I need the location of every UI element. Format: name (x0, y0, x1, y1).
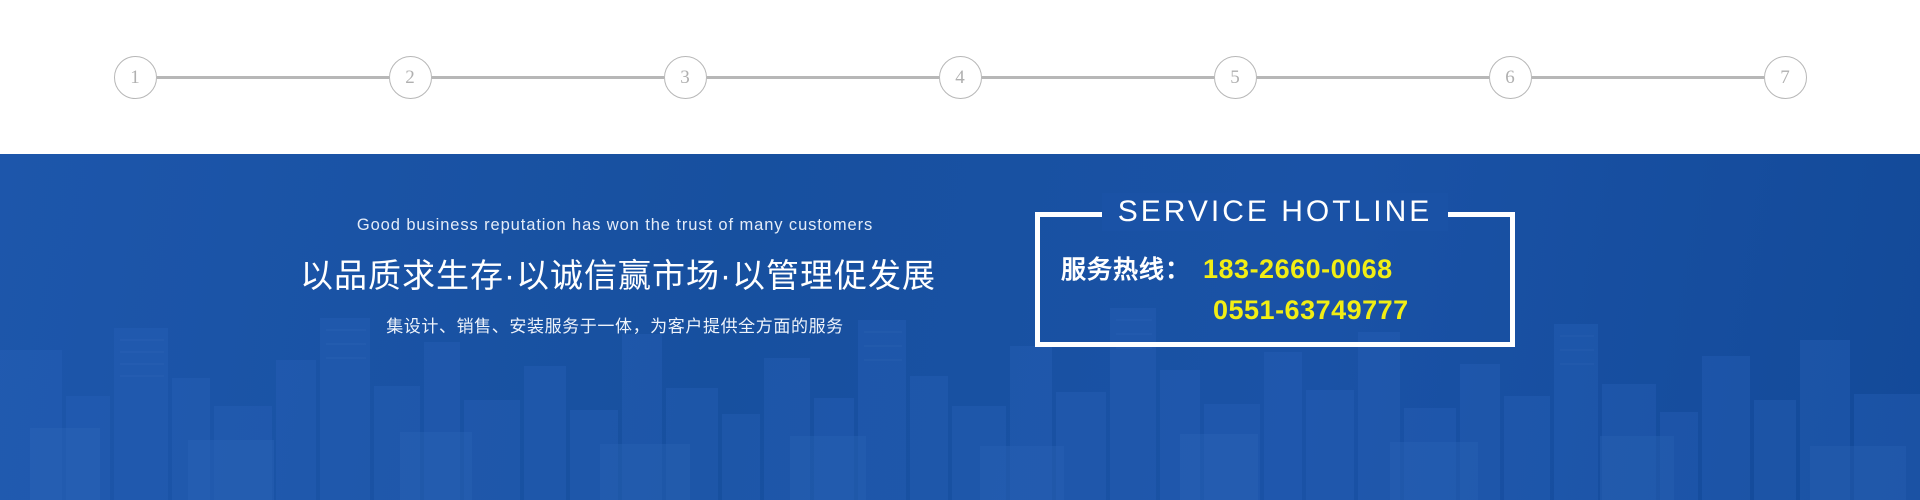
tagline-english: Good business reputation has won the tru… (300, 216, 930, 236)
hotline-row-secondary: 0551-63749777 (1061, 295, 1491, 326)
step-connector-line (707, 76, 939, 79)
steps-strip: 1 2 3 4 5 6 7 (0, 0, 1920, 154)
step-connector-line (432, 76, 664, 79)
steps-row: 1 2 3 4 5 6 7 (0, 0, 1920, 154)
step-connector-line (982, 76, 1214, 79)
hotline-phone-primary[interactable]: 183-2660-0068 (1203, 254, 1393, 285)
hotline-row-primary: 服务热线： 183-2660-0068 (1061, 250, 1491, 286)
hotline-title-wrap: SERVICE HOTLINE (1035, 193, 1515, 231)
banner-content: Good business reputation has won the tru… (0, 154, 1920, 500)
step-label: 2 (405, 68, 415, 87)
step-connector-line (1532, 76, 1764, 79)
tagline-chinese-subtitle: 集设计、销售、安装服务于一体，为客户提供全方面的服务 (300, 317, 930, 337)
step-node-6[interactable]: 6 (1489, 56, 1532, 99)
step-label: 1 (130, 68, 140, 87)
step-connector-line (1257, 76, 1489, 79)
step-node-3[interactable]: 3 (664, 56, 707, 99)
promo-banner: Good business reputation has won the tru… (0, 154, 1920, 500)
hotline-label: 服务热线： (1061, 250, 1191, 286)
page-root: 1 2 3 4 5 6 7 (0, 0, 1920, 500)
hotline-title: SERVICE HOTLINE (1102, 193, 1449, 231)
step-node-7[interactable]: 7 (1764, 56, 1807, 99)
step-node-1[interactable]: 1 (114, 56, 157, 99)
tagline-chinese-headline: 以品质求生存·以诚信赢市场·以管理促发展 (300, 256, 930, 296)
step-label: 7 (1780, 68, 1790, 87)
step-label: 4 (955, 68, 965, 87)
step-node-2[interactable]: 2 (389, 56, 432, 99)
hotline-box: SERVICE HOTLINE 服务热线： 183-2660-0068 0551… (1035, 212, 1515, 347)
step-node-4[interactable]: 4 (939, 56, 982, 99)
hotline-phone-secondary[interactable]: 0551-63749777 (1213, 295, 1409, 326)
step-label: 3 (680, 68, 690, 87)
step-connector-line (157, 76, 389, 79)
hotline-rows: 服务热线： 183-2660-0068 0551-63749777 (1035, 250, 1515, 326)
step-label: 5 (1230, 68, 1240, 87)
step-node-5[interactable]: 5 (1214, 56, 1257, 99)
step-label: 6 (1505, 68, 1515, 87)
tagline-block: Good business reputation has won the tru… (300, 216, 930, 338)
